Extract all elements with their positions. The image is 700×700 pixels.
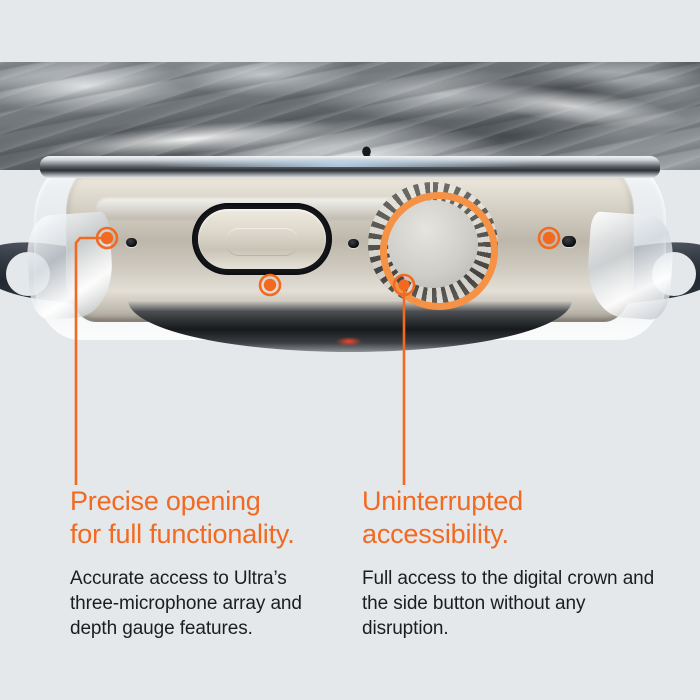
caption-headline-line2: accessibility. <box>362 519 509 549</box>
caption-body: Full access to the digital crown and the… <box>362 566 660 641</box>
bezel-glass-reflection <box>150 160 530 167</box>
microphone-port-left <box>126 238 137 247</box>
caption-precise-opening: Precise openingfor full functionality. A… <box>0 485 330 641</box>
product-feature-slide: Precise openingfor full functionality. A… <box>0 0 700 700</box>
caption-headline: Precise openingfor full functionality. <box>70 485 330 551</box>
caption-headline-line1: Uninterrupted <box>362 486 523 516</box>
crown-highlight-ring <box>380 192 498 310</box>
depth-gauge-port <box>348 239 359 248</box>
caption-headline-line2: for full functionality. <box>70 519 295 549</box>
heart-rate-sensor-glow <box>336 337 362 346</box>
side-button-contour <box>226 228 298 256</box>
caption-uninterrupted-accessibility: Uninterruptedaccessibility. Full access … <box>330 485 660 641</box>
caption-headline: Uninterruptedaccessibility. <box>362 485 660 551</box>
caption-body: Accurate access to Ultra’s three-microph… <box>70 566 330 641</box>
callout-captions: Precise openingfor full functionality. A… <box>0 485 700 641</box>
microphone-port-right <box>562 236 576 247</box>
caption-headline-line1: Precise opening <box>70 486 261 516</box>
